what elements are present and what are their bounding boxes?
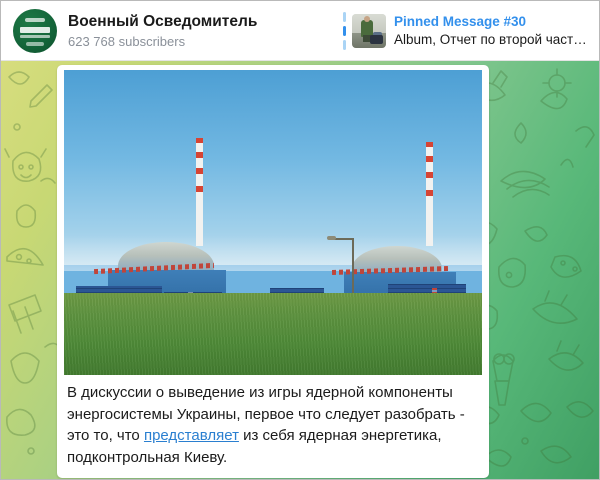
pinned-message-bar[interactable]: Pinned Message #30 Album, Отчет по второ… [337,9,600,53]
channel-title: Военный Осведомитель [68,12,257,31]
message-bubble[interactable]: В дискуссии о выведение из игры ядерной … [57,65,489,478]
channel-avatar[interactable] [13,9,57,53]
telegram-window: Военный Осведомитель 623 768 subscribers [0,0,600,480]
channel-info[interactable]: Военный Осведомитель 623 768 subscribers [1,9,337,53]
pinned-message-title: Pinned Message #30 [394,13,587,31]
pinned-message-thumbnail[interactable] [352,14,386,48]
message-caption: В дискуссии о выведение из игры ядерной … [57,375,489,478]
pin-position-indicator [343,12,346,50]
message-photo[interactable] [64,70,482,375]
caption-link[interactable]: представляет [144,427,239,444]
pinned-message-text: Pinned Message #30 Album, Отчет по второ… [394,13,587,49]
chat-header: Военный Осведомитель 623 768 subscribers [1,1,600,61]
channel-text-block: Военный Осведомитель 623 768 subscribers [68,12,257,50]
pinned-message-subtitle: Album, Отчет по второй част… [394,31,587,49]
subscriber-count: 623 768 subscribers [68,33,257,50]
